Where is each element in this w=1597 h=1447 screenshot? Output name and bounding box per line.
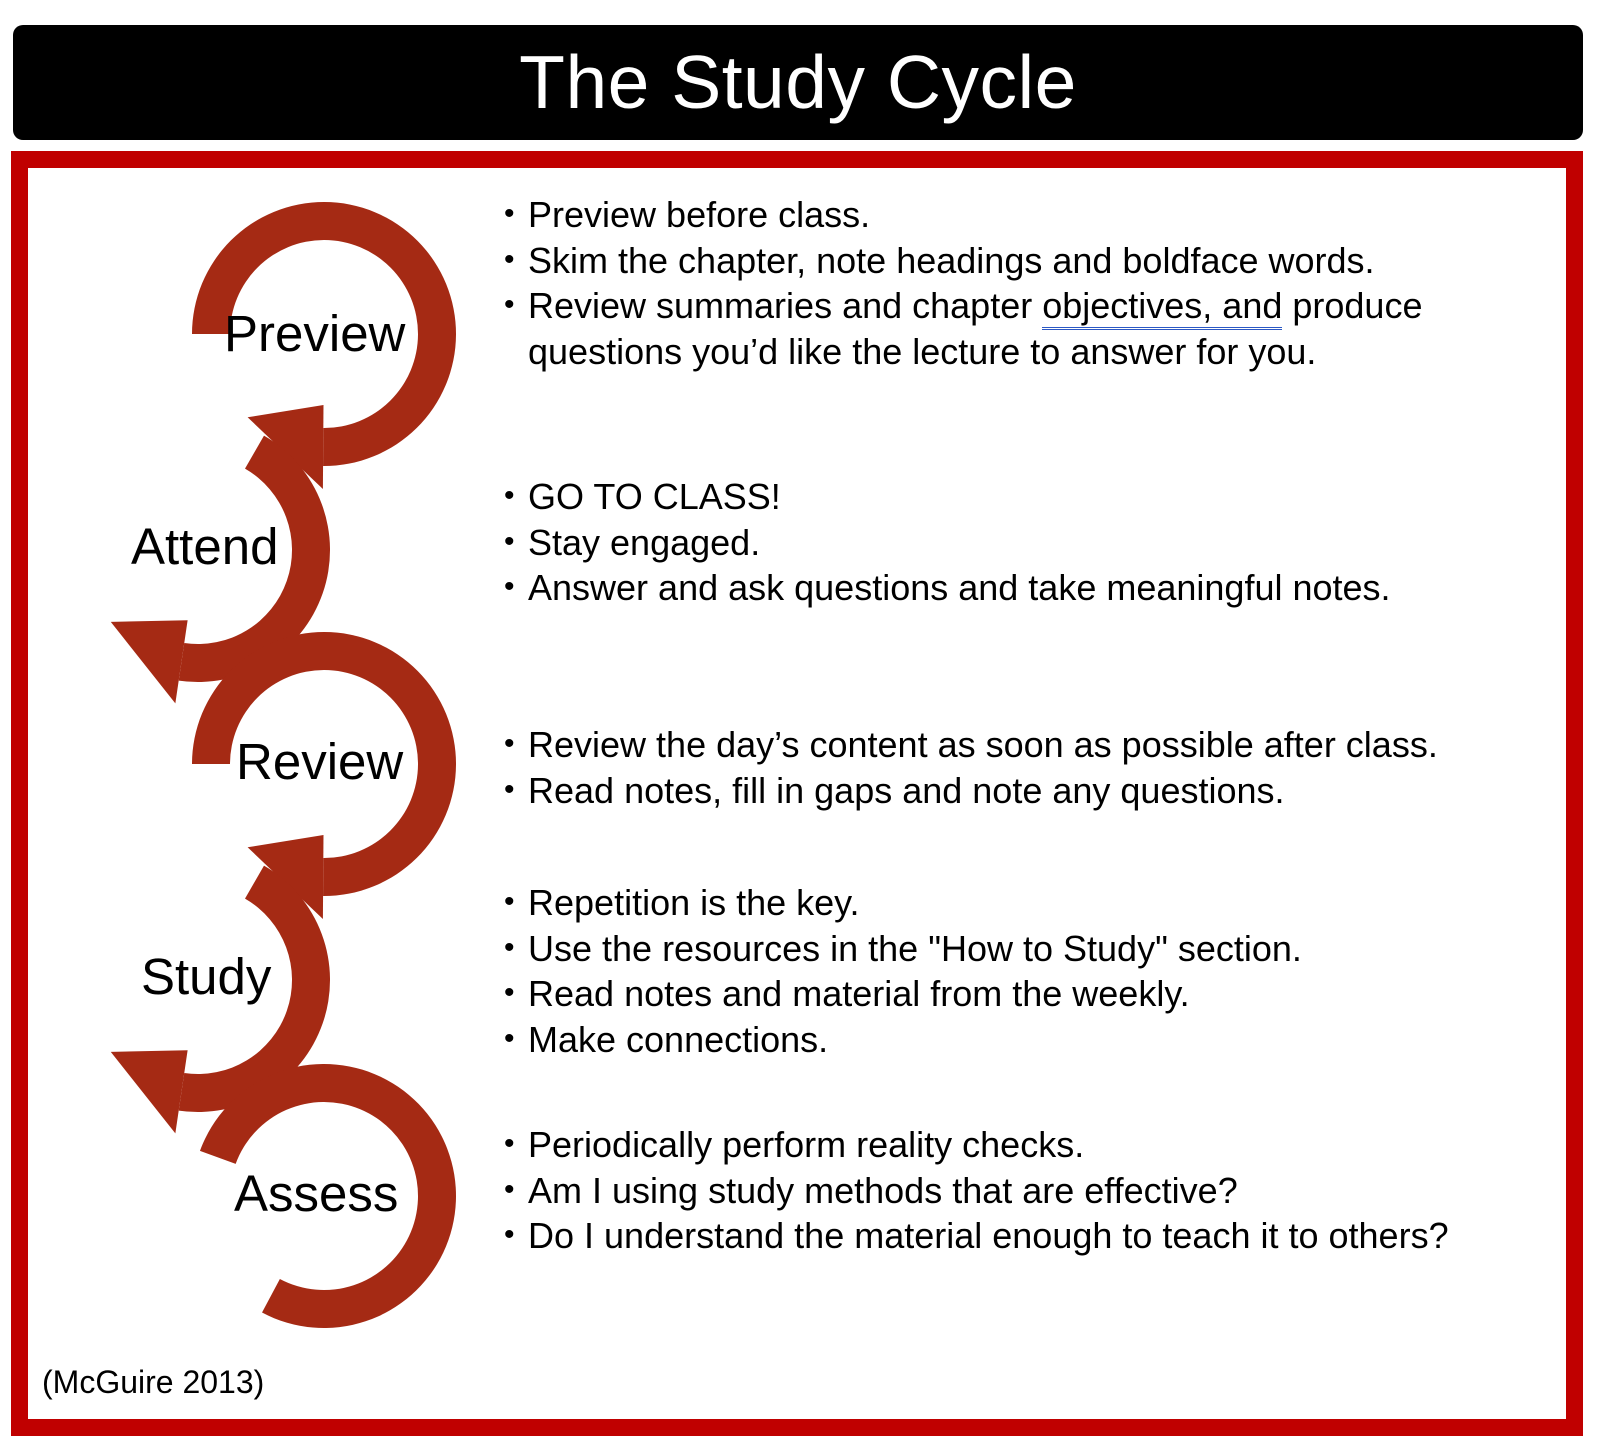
bullet-group-study: •Repetition is the key.•Use the resource… (504, 880, 1544, 1062)
text-span: Skim the chapter, note headings and bold… (528, 240, 1375, 281)
content-frame: Preview Attend Review Study Assess •Prev… (11, 151, 1583, 1436)
bullet-dot-icon: • (504, 880, 528, 924)
title-bar: The Study Cycle (13, 25, 1583, 140)
bullet-group-review: •Review the day’s content as soon as pos… (504, 722, 1544, 813)
bullet-text: Do I understand the material enough to t… (528, 1213, 1544, 1259)
cycle-arrowhead-study (111, 1050, 188, 1133)
bullet-item: •Make connections. (504, 1017, 1544, 1063)
bullet-dot-icon: • (504, 926, 528, 970)
bullet-text: Review the day’s content as soon as poss… (528, 722, 1544, 768)
bullet-dot-icon: • (504, 565, 528, 609)
text-span: Do I understand the material enough to t… (528, 1215, 1449, 1256)
stage-label-review: Review (236, 736, 403, 787)
bullet-dot-icon: • (504, 238, 528, 282)
bullet-group-assess: •Periodically perform reality checks.•Am… (504, 1122, 1544, 1259)
bullet-item: •Use the resources in the "How to Study"… (504, 926, 1544, 972)
bullet-text: Read notes, fill in gaps and note any qu… (528, 768, 1544, 814)
bullet-dot-icon: • (504, 768, 528, 812)
bullet-item: •Preview before class. (504, 192, 1544, 238)
bullet-text: Answer and ask questions and take meanin… (528, 565, 1544, 611)
bullet-item: •Skim the chapter, note headings and bol… (504, 238, 1544, 284)
page-title: The Study Cycle (519, 45, 1077, 120)
stage-label-preview: Preview (224, 308, 405, 359)
text-span: Stay engaged. (528, 522, 760, 563)
bullet-text: Use the resources in the "How to Study" … (528, 926, 1544, 972)
text-span: Review summaries and chapter (528, 285, 1042, 326)
bullet-text: Periodically perform reality checks. (528, 1122, 1544, 1168)
bullet-dot-icon: • (504, 1213, 528, 1257)
bullet-text: Am I using study methods that are effect… (528, 1168, 1544, 1214)
bullet-text: Make connections. (528, 1017, 1544, 1063)
text-span: Repetition is the key. (528, 882, 860, 923)
bullet-dot-icon: • (504, 1122, 528, 1166)
bullet-dot-icon: • (504, 722, 528, 766)
bullet-item: •Repetition is the key. (504, 880, 1544, 926)
text-span: Read notes and material from the weekly. (528, 973, 1190, 1014)
bullet-item: •Read notes and material from the weekly… (504, 971, 1544, 1017)
bullet-dot-icon: • (504, 283, 528, 327)
bullet-dot-icon: • (504, 1017, 528, 1061)
bullet-text: Review summaries and chapter objectives,… (528, 283, 1544, 374)
bullet-dot-icon: • (504, 520, 528, 564)
bullet-item: •Am I using study methods that are effec… (504, 1168, 1544, 1214)
text-span: Answer and ask questions and take meanin… (528, 567, 1391, 608)
stage-label-attend: Attend (131, 521, 278, 572)
bullet-item: •GO TO CLASS! (504, 474, 1544, 520)
text-span: Periodically perform reality checks. (528, 1124, 1084, 1165)
text-span: GO TO CLASS! (528, 476, 781, 517)
text-span: Make connections. (528, 1019, 828, 1060)
bullet-text: Skim the chapter, note headings and bold… (528, 238, 1544, 284)
bullet-group-preview: •Preview before class.•Skim the chapter,… (504, 192, 1544, 374)
text-span: Read notes, fill in gaps and note any qu… (528, 770, 1285, 811)
citation-text: (McGuire 2013) (42, 1364, 264, 1401)
bullet-dot-icon: • (504, 1168, 528, 1212)
grammar-suggestion-span: objectives, and (1042, 285, 1282, 330)
bullet-item: •Answer and ask questions and take meani… (504, 565, 1544, 611)
bullet-item: •Review the day’s content as soon as pos… (504, 722, 1544, 768)
bullet-text: Repetition is the key. (528, 880, 1544, 926)
text-span: Preview before class. (528, 194, 870, 235)
bullet-item: •Do I understand the material enough to … (504, 1213, 1544, 1259)
bullet-dot-icon: • (504, 971, 528, 1015)
bullet-item: •Read notes, fill in gaps and note any q… (504, 768, 1544, 814)
bullet-dot-icon: • (504, 192, 528, 236)
study-cycle-infographic: The Study Cycle Preview Attend Review St… (0, 0, 1597, 1447)
bullet-text: Read notes and material from the weekly. (528, 971, 1544, 1017)
content-frame-inner: Preview Attend Review Study Assess •Prev… (28, 168, 1566, 1419)
bullet-group-attend: •GO TO CLASS!•Stay engaged.•Answer and a… (504, 474, 1544, 611)
bullet-text: Preview before class. (528, 192, 1544, 238)
bullet-text: GO TO CLASS! (528, 474, 1544, 520)
bullet-text: Stay engaged. (528, 520, 1544, 566)
bullet-item: •Stay engaged. (504, 520, 1544, 566)
text-span: Am I using study methods that are effect… (528, 1170, 1238, 1211)
text-span: Review the day’s content as soon as poss… (528, 724, 1438, 765)
stage-label-assess: Assess (234, 1168, 398, 1219)
bullet-item: •Periodically perform reality checks. (504, 1122, 1544, 1168)
bullet-dot-icon: • (504, 474, 528, 518)
bullet-item: •Review summaries and chapter objectives… (504, 283, 1544, 374)
cycle-arrowhead-attend (111, 620, 188, 703)
text-span: Use the resources in the "How to Study" … (528, 928, 1302, 969)
stage-label-study: Study (141, 951, 271, 1002)
